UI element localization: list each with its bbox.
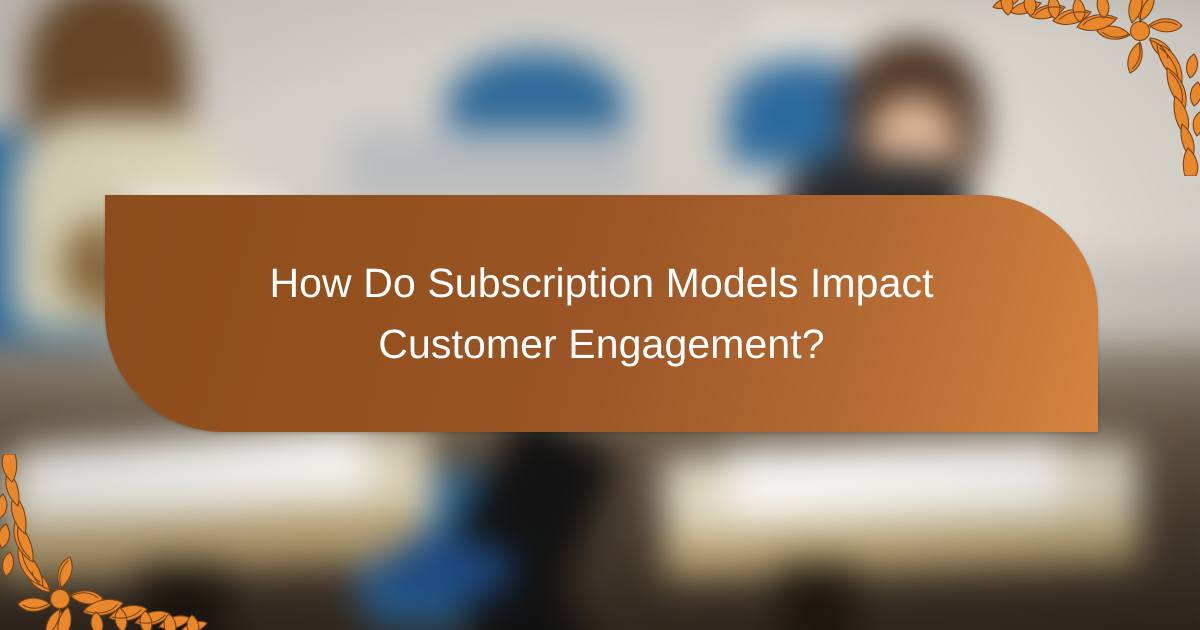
- banner-title-line-1: How Do Subscription Models Impact: [175, 253, 1028, 314]
- share-card-canvas: How Do Subscription Models Impact Custom…: [0, 0, 1200, 630]
- title-banner: How Do Subscription Models Impact Custom…: [105, 195, 1098, 432]
- banner-title: How Do Subscription Models Impact Custom…: [105, 253, 1098, 375]
- banner-title-line-2: Customer Engagement?: [175, 314, 1028, 375]
